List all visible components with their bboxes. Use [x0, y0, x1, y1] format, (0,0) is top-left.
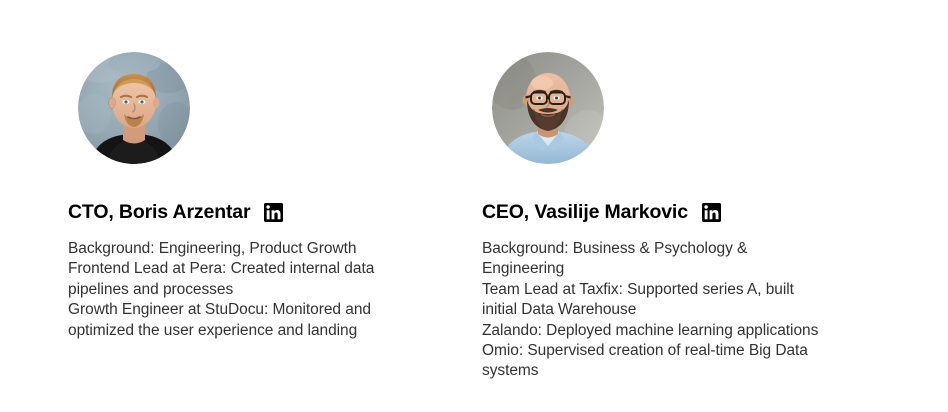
- bio-line: Zalando: Deployed machine learning appli…: [482, 321, 832, 341]
- avatar-boris-arzentar: [78, 52, 190, 164]
- profiles-page: CTO, Boris Arzentar Background: Engineer…: [0, 0, 948, 412]
- profile-name-title: CEO, Vasilije Markovic: [482, 199, 688, 225]
- profile-bio-vasilije: Background: Business & Psychology & Engi…: [482, 239, 832, 382]
- bio-line: Background: Business & Psychology & Engi…: [482, 239, 832, 280]
- linkedin-icon[interactable]: [702, 203, 721, 222]
- profile-name-row-boris: CTO, Boris Arzentar: [68, 199, 442, 225]
- bio-line: Frontend Lead at Pera: Created internal …: [68, 259, 413, 300]
- profile-name-title: CTO, Boris Arzentar: [68, 199, 250, 225]
- profile-bio-boris: Background: Engineering, Product Growth …: [68, 239, 413, 341]
- bio-line: Omio: Supervised creation of real-time B…: [482, 341, 832, 382]
- bio-line: Team Lead at Taxfix: Supported series A,…: [482, 280, 832, 321]
- profile-name-row-vasilije: CEO, Vasilije Markovic: [482, 199, 912, 225]
- profile-card-boris-arzentar: CTO, Boris Arzentar Background: Engineer…: [0, 0, 442, 412]
- avatar-vasilije-markovic: [492, 52, 604, 164]
- bio-line: Growth Engineer at StuDocu: Monitored an…: [68, 300, 413, 341]
- profile-card-vasilije-markovic: CEO, Vasilije Markovic Background: Busin…: [442, 0, 912, 412]
- profiles-container: CTO, Boris Arzentar Background: Engineer…: [0, 0, 948, 412]
- linkedin-icon[interactable]: [264, 203, 283, 222]
- bio-line: Background: Engineering, Product Growth: [68, 239, 413, 259]
